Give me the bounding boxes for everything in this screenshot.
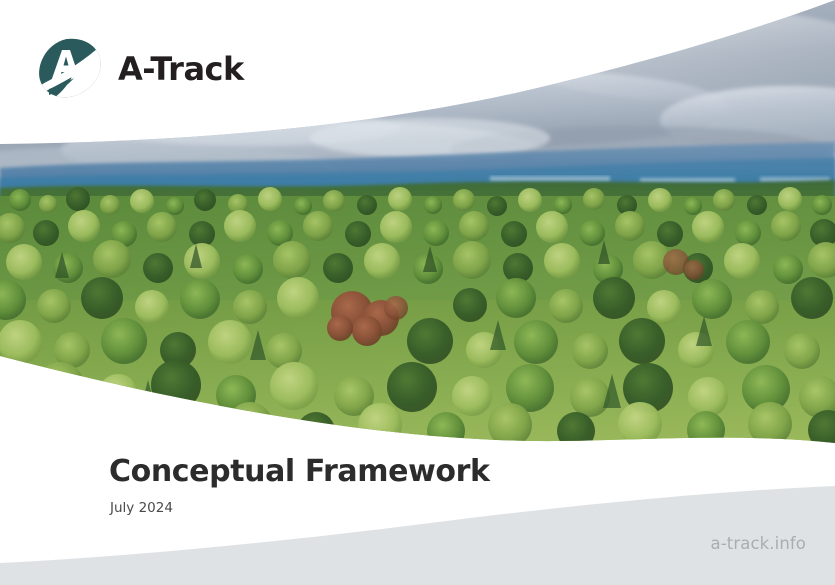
cover-page: A-Track Conceptual Framework July 2024 a…: [0, 0, 835, 585]
footer-website-url[interactable]: a-track.info: [711, 534, 806, 553]
brand-wordmark: A-Track: [118, 53, 244, 85]
page-date: July 2024: [110, 502, 490, 516]
page-title: Conceptual Framework: [109, 455, 490, 489]
a-track-leaf-logo-icon: [36, 36, 104, 102]
title-block: Conceptual Framework July 2024: [109, 455, 490, 515]
brand-logo[interactable]: A-Track: [36, 36, 244, 102]
